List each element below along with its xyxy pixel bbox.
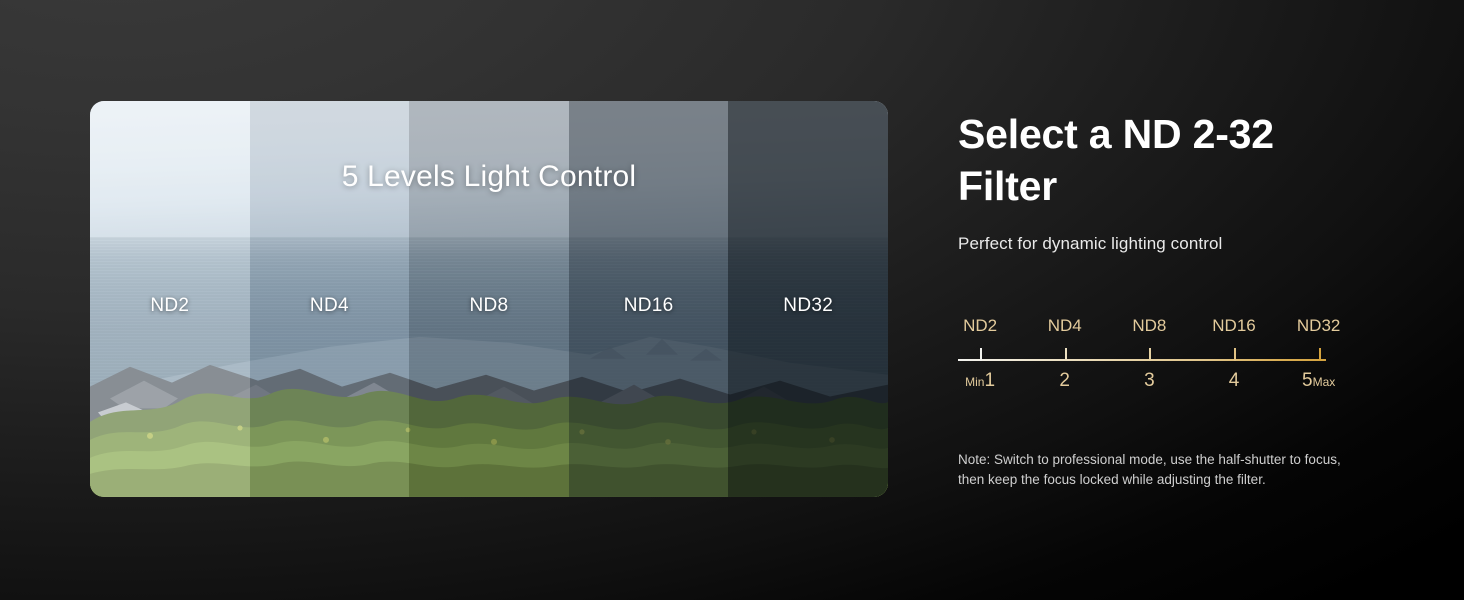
usage-note: Note: Switch to professional mode, use t… [958,450,1370,489]
scale-step-number: 3 [1144,370,1155,392]
scale-tick[interactable] [1234,348,1236,361]
page-subtitle: Perfect for dynamic lighting control [958,234,1378,254]
scale-step-number: 1 [984,370,995,392]
scale-nd-label: ND4 [1048,316,1082,336]
scale-step-min: Min1 [965,370,995,392]
scale-tick[interactable] [1319,348,1321,361]
scale-max-label: Max [1313,375,1336,389]
scale-track[interactable] [958,346,1326,364]
scale-tick[interactable] [1065,348,1067,361]
scale-step-max: 5Max [1302,370,1335,392]
product-feature-banner: ND2 [0,0,1464,600]
page-title: Select a ND 2-32 Filter [958,108,1318,213]
nd-strip-label: ND32 [728,295,888,317]
scale-tick[interactable] [1149,348,1151,361]
nd-strip-label: ND8 [409,295,569,317]
scale-nd-label: ND16 [1212,316,1255,336]
hero-caption: 5 Levels Light Control [90,160,888,194]
foliage-layer [250,378,410,497]
scale-nd-label: ND2 [963,316,997,336]
scale-tick[interactable] [980,348,982,361]
nd-level-scale[interactable]: ND2 ND4 ND8 ND16 ND32 Min1 2 3 4 5Max [958,316,1326,394]
nd-filter-comparison-image: ND2 [90,101,888,497]
scale-step-number: 2 [1059,370,1070,392]
scale-line [958,359,1326,361]
nd-strip-label: ND2 [90,295,250,317]
info-panel: Select a ND 2-32 Filter Perfect for dyna… [958,108,1378,254]
scale-nd-labels: ND2 ND4 ND8 ND16 ND32 [958,316,1326,340]
scale-step-number: 5 [1302,370,1313,392]
foliage-layer [569,378,729,497]
scale-step-labels: Min1 2 3 4 5Max [958,368,1326,394]
foliage-layer [728,378,888,497]
scale-nd-label: ND8 [1132,316,1166,336]
scale-min-label: Min [965,375,984,389]
foliage-layer [409,378,569,497]
scale-step-number: 4 [1229,370,1240,392]
nd-strip-label: ND4 [250,295,410,317]
foliage-layer [90,378,250,497]
nd-strip-label: ND16 [569,295,729,317]
scale-nd-label: ND32 [1297,316,1340,336]
